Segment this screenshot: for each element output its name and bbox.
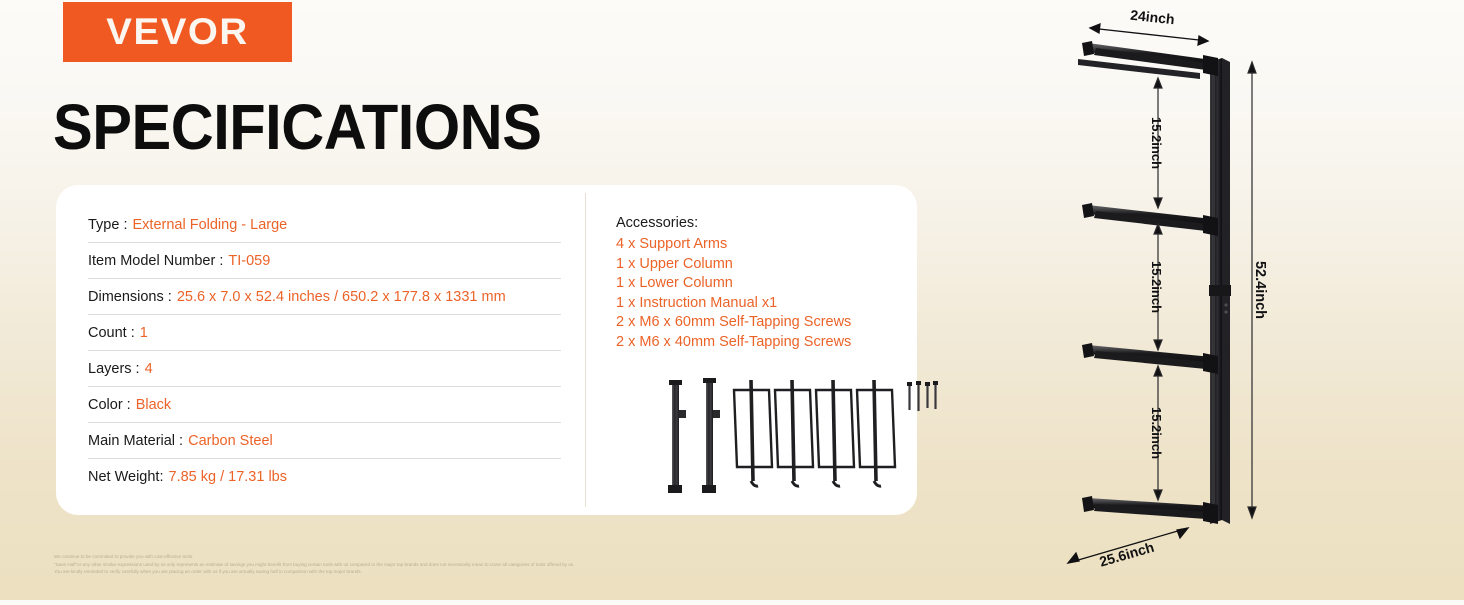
spec-value: 7.85 kg / 17.31 lbs [169, 469, 288, 485]
table-row: Net Weight: 7.85 kg / 17.31 lbs [88, 459, 561, 495]
spec-label: Main Material : [88, 433, 183, 449]
self-tapping-screws-part [907, 381, 938, 411]
accessories-list: Accessories: 4 x Support Arms 1 x Upper … [616, 215, 906, 353]
accessories-parts-illustration [651, 377, 941, 497]
support-arm-part [775, 380, 813, 486]
list-item: 1 x Instruction Manual x1 [616, 294, 906, 314]
list-item: 1 x Lower Column [616, 274, 906, 294]
spec-label: Color : [88, 397, 131, 413]
brand-name: VEVOR [106, 11, 249, 53]
disclaimer-line: You are kindly reminded to verify carefu… [54, 568, 814, 576]
spec-value: Carbon Steel [188, 433, 273, 449]
dimension-label-24inch: 24inch [1130, 7, 1176, 28]
list-item: 2 x M6 x 40mm Self-Tapping Screws [616, 333, 906, 353]
accessories-title: Accessories: [616, 215, 906, 231]
spec-value: Black [136, 397, 171, 413]
spec-label: Net Weight: [88, 469, 164, 485]
spec-value: External Folding - Large [133, 217, 288, 233]
vevor-logo-bar: VEVOR [63, 2, 292, 62]
table-row: Layers : 4 [88, 351, 561, 387]
specifications-card: Type : External Folding - Large Item Mod… [56, 185, 917, 515]
dimension-label-gap2: 15.2inch [1149, 261, 1164, 313]
list-item: 4 x Support Arms [616, 235, 906, 255]
rack-shelf-arm-1 [1078, 41, 1218, 79]
dimension-label-gap1: 15.2inch [1149, 117, 1164, 169]
product-illustration: 24inch 15.2inch 15.2inch 15.2inch 52.4in… [1040, 0, 1340, 600]
spec-value: 25.6 x 7.0 x 52.4 inches / 650.2 x 177.8… [177, 289, 506, 305]
spec-table: Type : External Folding - Large Item Mod… [88, 207, 561, 495]
dimension-top-width [1090, 24, 1208, 45]
spec-value: 1 [140, 325, 148, 341]
card-vertical-divider [585, 193, 586, 507]
spec-label: Dimensions : [88, 289, 172, 305]
table-row: Item Model Number : TI-059 [88, 243, 561, 279]
table-row: Count : 1 [88, 315, 561, 351]
dimension-label-gap3: 15.2inch [1149, 407, 1164, 459]
table-row: Type : External Folding - Large [88, 207, 561, 243]
lower-column-part [702, 378, 720, 493]
support-arm-part [857, 380, 895, 486]
disclaimer-line: We continue to be committed to provide y… [54, 553, 814, 561]
rack-shelf-arm-3 [1082, 343, 1218, 374]
dimension-label-52inch: 52.4inch [1252, 261, 1268, 319]
spec-label: Count : [88, 325, 135, 341]
spec-value: TI-059 [228, 253, 270, 269]
table-row: Color : Black [88, 387, 561, 423]
list-item: 2 x M6 x 60mm Self-Tapping Screws [616, 313, 906, 333]
list-item: 1 x Upper Column [616, 255, 906, 275]
rack-shelf-arm-2 [1082, 203, 1218, 236]
support-arm-part [816, 380, 854, 486]
table-row: Dimensions : 25.6 x 7.0 x 52.4 inches / … [88, 279, 561, 315]
table-row: Main Material : Carbon Steel [88, 423, 561, 459]
rack-vertical-post [1209, 58, 1231, 524]
spec-label: Layers : [88, 361, 140, 377]
spec-label: Type : [88, 217, 128, 233]
upper-column-part [668, 380, 686, 493]
spec-label: Item Model Number : [88, 253, 223, 269]
rack-shelf-arm-4 [1082, 496, 1218, 524]
spec-value: 4 [145, 361, 153, 377]
disclaimer-line: "Save Half"or any other similar expressi… [54, 561, 814, 569]
page-title: SPECIFICATIONS [53, 92, 541, 162]
support-arm-part [734, 380, 772, 486]
dimension-label-25inch: 25.6inch [1097, 539, 1155, 570]
disclaimer-text: We continue to be committed to provide y… [54, 553, 814, 576]
